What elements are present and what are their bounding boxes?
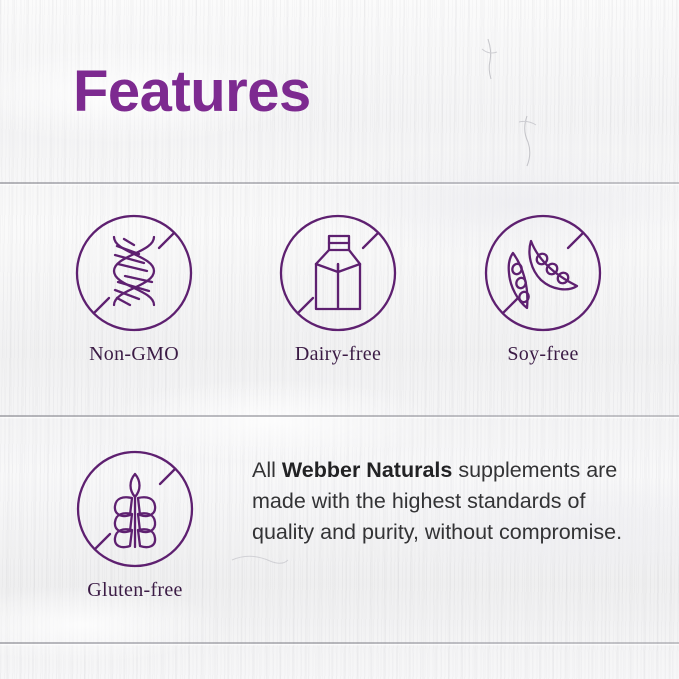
soybean-pods-no-symbol-icon [482,212,604,334]
dna-no-symbol-icon [73,212,195,334]
blurb-lead: All [252,458,282,482]
badge-wrap [49,212,219,334]
wheat-stalk-no-symbol-icon [74,448,196,570]
feature-label-soy-free: Soy-free [458,343,628,366]
blurb-brand: Webber Naturals [282,458,452,482]
feature-item-dairy-free: Dairy-free [253,212,423,366]
feature-label-non-gmo: Non-GMO [49,343,219,366]
brand-blurb: All Webber Naturals supplements are made… [252,455,652,548]
feature-label-gluten-free: Gluten-free [50,579,220,602]
feature-item-gluten-free: Gluten-free [50,448,220,602]
feature-label-dairy-free: Dairy-free [253,343,423,366]
badge-wrap [458,212,628,334]
badge-wrap [253,212,423,334]
page-title: Features [73,58,311,125]
milk-carton-no-symbol-icon [277,212,399,334]
feature-item-soy-free: Soy-free [458,212,628,366]
feature-item-non-gmo: Non-GMO [49,212,219,366]
badge-wrap [50,448,220,570]
